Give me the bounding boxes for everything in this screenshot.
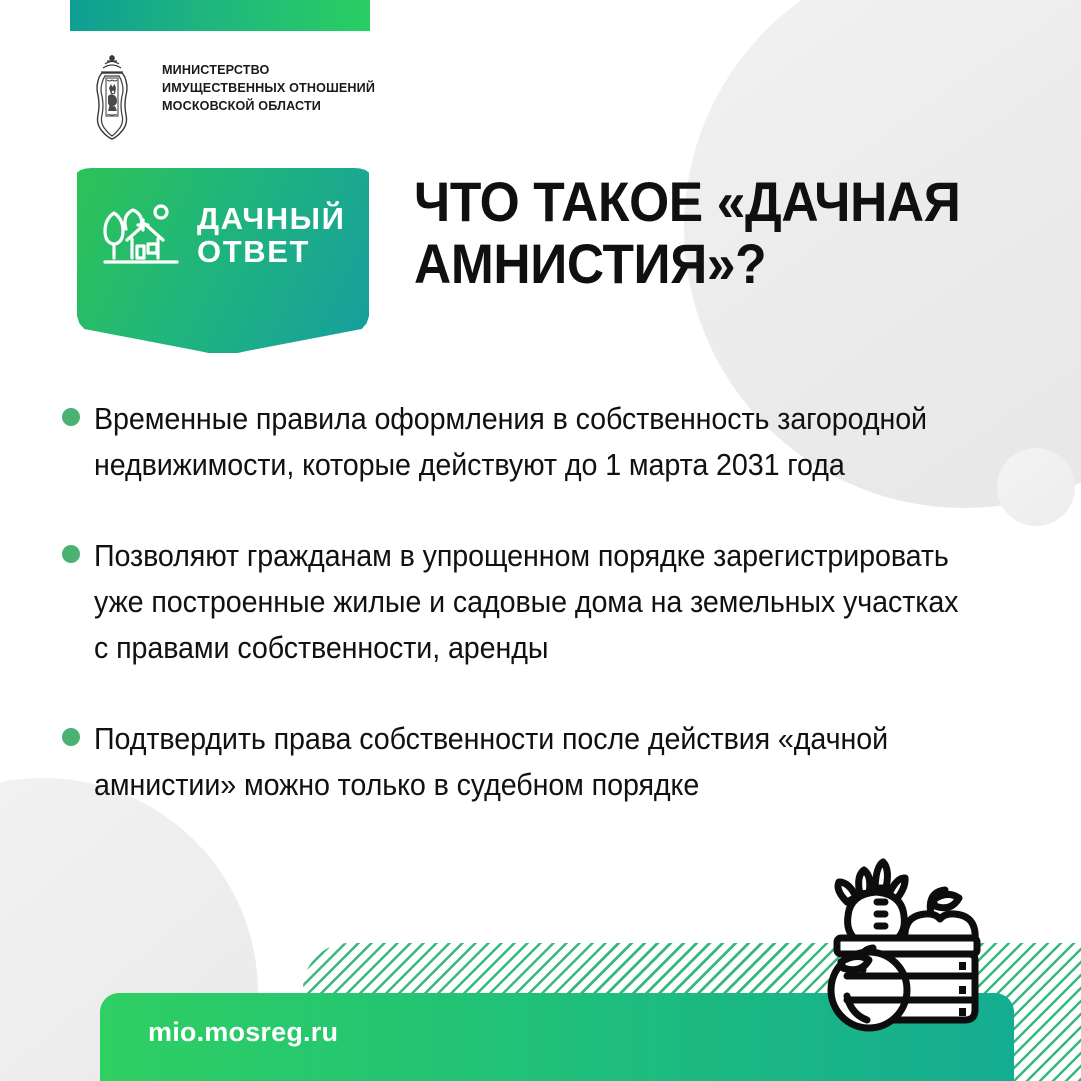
bullet-dot-icon xyxy=(62,545,80,563)
ministry-line-3: МОСКОВСКОЙ ОБЛАСТИ xyxy=(162,98,375,116)
badge-line-1: ДАЧНЫЙ xyxy=(197,202,346,235)
page-title: ЧТО ТАКОЕ «ДАЧНАЯ АМНИСТИЯ»? xyxy=(414,171,966,296)
badge-content: ДАЧНЫЙ ОТВЕТ xyxy=(77,198,369,272)
footer-url[interactable]: mio.mosreg.ru xyxy=(148,1017,338,1048)
ministry-name: МИНИСТЕРСТВО ИМУЩЕСТВЕННЫХ ОТНОШЕНИЙ МОС… xyxy=(162,62,375,116)
top-accent-bar xyxy=(70,0,370,31)
bullet-text: Временные правила оформления в собственн… xyxy=(94,396,966,489)
badge-line-2: ОТВЕТ xyxy=(197,235,346,268)
list-item: Позволяют гражданам в упрощенном порядке… xyxy=(62,533,1022,672)
infographic-canvas: МИНИСТЕРСТВО ИМУЩЕСТВЕННЫХ ОТНОШЕНИЙ МОС… xyxy=(0,0,1081,1081)
dachny-otvet-badge: ДАЧНЫЙ ОТВЕТ xyxy=(77,168,369,353)
bullet-text: Позволяют гражданам в упрощенном порядке… xyxy=(94,533,966,672)
bullet-text: Подтвердить права собственности после де… xyxy=(94,716,966,809)
badge-wordmark: ДАЧНЫЙ ОТВЕТ xyxy=(197,202,346,269)
house-tree-icon xyxy=(99,198,183,272)
ministry-lockup: МИНИСТЕРСТВО ИМУЩЕСТВЕННЫХ ОТНОШЕНИЙ МОС… xyxy=(76,52,375,144)
bullet-dot-icon xyxy=(62,728,80,746)
bullet-dot-icon xyxy=(62,408,80,426)
list-item: Подтвердить права собственности после де… xyxy=(62,716,1022,809)
list-item: Временные правила оформления в собственн… xyxy=(62,396,1022,489)
ministry-line-1: МИНИСТЕРСТВО xyxy=(162,62,375,80)
vegetable-basket-icon xyxy=(813,858,1001,1048)
ministry-line-2: ИМУЩЕСТВЕННЫХ ОТНОШЕНИЙ xyxy=(162,80,375,98)
coat-of-arms-icon xyxy=(76,52,148,144)
bullet-list: Временные правила оформления в собственн… xyxy=(62,396,1022,853)
